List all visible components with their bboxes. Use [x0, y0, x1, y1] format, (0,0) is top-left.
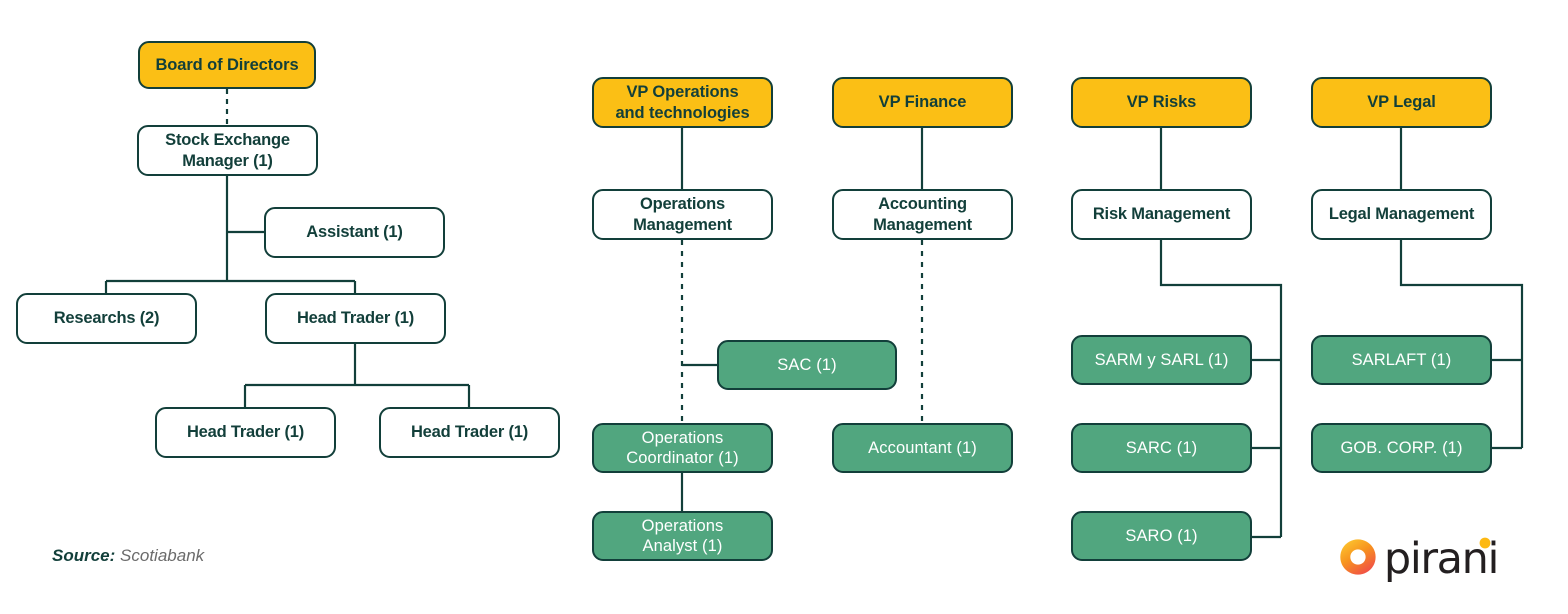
- node-operations-management[interactable]: Operations Management: [592, 189, 773, 240]
- node-researchs[interactable]: Researchs (2): [16, 293, 197, 344]
- node-vp-legal[interactable]: VP Legal: [1311, 77, 1492, 128]
- node-accounting-management[interactable]: Accounting Management: [832, 189, 1013, 240]
- node-accountant[interactable]: Accountant (1): [832, 423, 1013, 473]
- node-vp-operations-and-technologies[interactable]: VP Operations and technologies: [592, 77, 773, 128]
- node-head-trader-b[interactable]: Head Trader (1): [379, 407, 560, 458]
- source-label: Source:: [52, 546, 115, 565]
- node-sarc[interactable]: SARC (1): [1071, 423, 1252, 473]
- node-sarlaft[interactable]: SARLAFT (1): [1311, 335, 1492, 385]
- donut-icon: [1338, 531, 1378, 583]
- org-chart-canvas: Board of Directors Stock Exchange Manage…: [0, 0, 1568, 614]
- node-vp-finance[interactable]: VP Finance: [832, 77, 1013, 128]
- link-risk-mgmt-bus: [1161, 240, 1281, 537]
- brand-logo: pirani: [1338, 528, 1498, 586]
- node-vp-risks[interactable]: VP Risks: [1071, 77, 1252, 128]
- node-assistant[interactable]: Assistant (1): [264, 207, 445, 258]
- node-saro[interactable]: SARO (1): [1071, 511, 1252, 561]
- node-head-trader-lead[interactable]: Head Trader (1): [265, 293, 446, 344]
- node-operations-analyst[interactable]: Operations Analyst (1): [592, 511, 773, 561]
- node-gob-corp[interactable]: GOB. CORP. (1): [1311, 423, 1492, 473]
- node-stock-exchange-manager[interactable]: Stock Exchange Manager (1): [137, 125, 318, 176]
- node-head-trader-a[interactable]: Head Trader (1): [155, 407, 336, 458]
- node-operations-coordinator[interactable]: Operations Coordinator (1): [592, 423, 773, 473]
- node-sarm-y-sarl[interactable]: SARM y SARL (1): [1071, 335, 1252, 385]
- node-risk-management[interactable]: Risk Management: [1071, 189, 1252, 240]
- source-value: Scotiabank: [120, 546, 204, 565]
- node-sac[interactable]: SAC (1): [717, 340, 897, 390]
- source-note: Source: Scotiabank: [52, 546, 204, 566]
- brand-dot-icon: [1478, 536, 1492, 550]
- node-legal-management[interactable]: Legal Management: [1311, 189, 1492, 240]
- node-board-of-directors[interactable]: Board of Directors: [138, 41, 316, 89]
